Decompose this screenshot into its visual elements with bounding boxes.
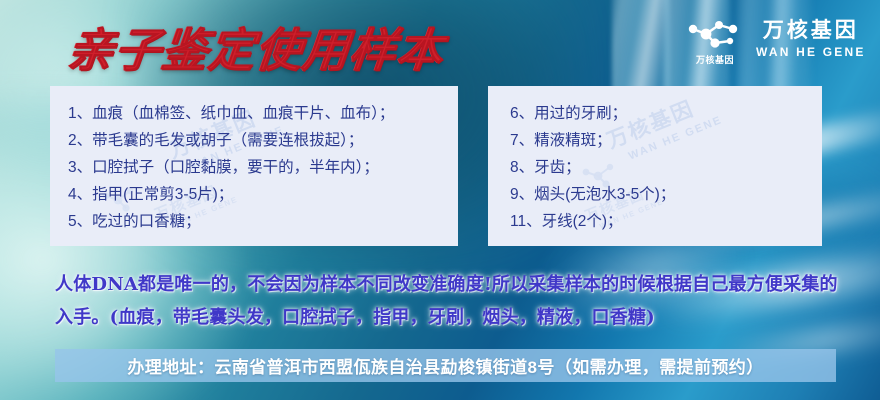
sample-list-left: 1、血痕（血棉签、纸巾血、血痕干片、血布）； 2、带毛囊的毛发或胡子（需要连根拔… [50,86,458,235]
brand-wordmark: 万核基因 WAN HE GENE [756,19,866,59]
page-title: 亲子鉴定使用样本 [65,14,448,80]
logo-mark-caption: 万核基因 [686,53,744,66]
list-item: 6、用过的牙刷； [510,100,812,127]
brand-name-en: WAN HE GENE [756,45,866,59]
sample-list-panel-left: 万核基因 WAN HE GENE 万核基因 WAN HE GENE [50,86,458,246]
poster-canvas: 亲子鉴定使用样本 万核 [0,0,880,400]
list-item: 11、牙线(2个)； [510,208,812,235]
sample-list-panel-right: 万核基因 WAN HE GENE 万核基因 WAN HE GENE [488,86,822,246]
list-item: 8、牙齿； [510,154,812,181]
brand-logo: 万核基因 万核基因 WAN HE GENE [686,14,866,64]
brand-name-cn: 万核基因 [763,19,859,42]
list-item: 4、指甲(正常剪3-5片)； [68,181,448,208]
list-item: 7、精液精斑； [510,127,812,154]
address-bar: 办理地址：云南省普洱市西盟佤族自治县勐梭镇街道8号（如需办理，需提前预约） [55,349,836,382]
description-paragraph: 人体DNA都是唯一的，不会因为样本不同改变准确度!所以采集样本的时候根据自己最方… [55,268,845,334]
list-item: 1、血痕（血棉签、纸巾血、血痕干片、血布）； [68,100,448,127]
list-item: 3、口腔拭子（口腔黏膜，要干的，半年内）； [68,154,448,181]
address-text: 办理地址：云南省普洱市西盟佤族自治县勐梭镇街道8号（如需办理，需提前预约） [127,353,763,378]
molecule-dna-icon: 万核基因 [686,14,744,64]
sample-list-right: 6、用过的牙刷； 7、精液精斑； 8、牙齿； 9、烟头(无泡水3-5个)； 11… [488,86,822,235]
list-item: 2、带毛囊的毛发或胡子（需要连根拔起）； [68,127,448,154]
list-item: 9、烟头(无泡水3-5个)； [510,181,812,208]
list-item: 5、吃过的口香糖； [68,208,448,235]
